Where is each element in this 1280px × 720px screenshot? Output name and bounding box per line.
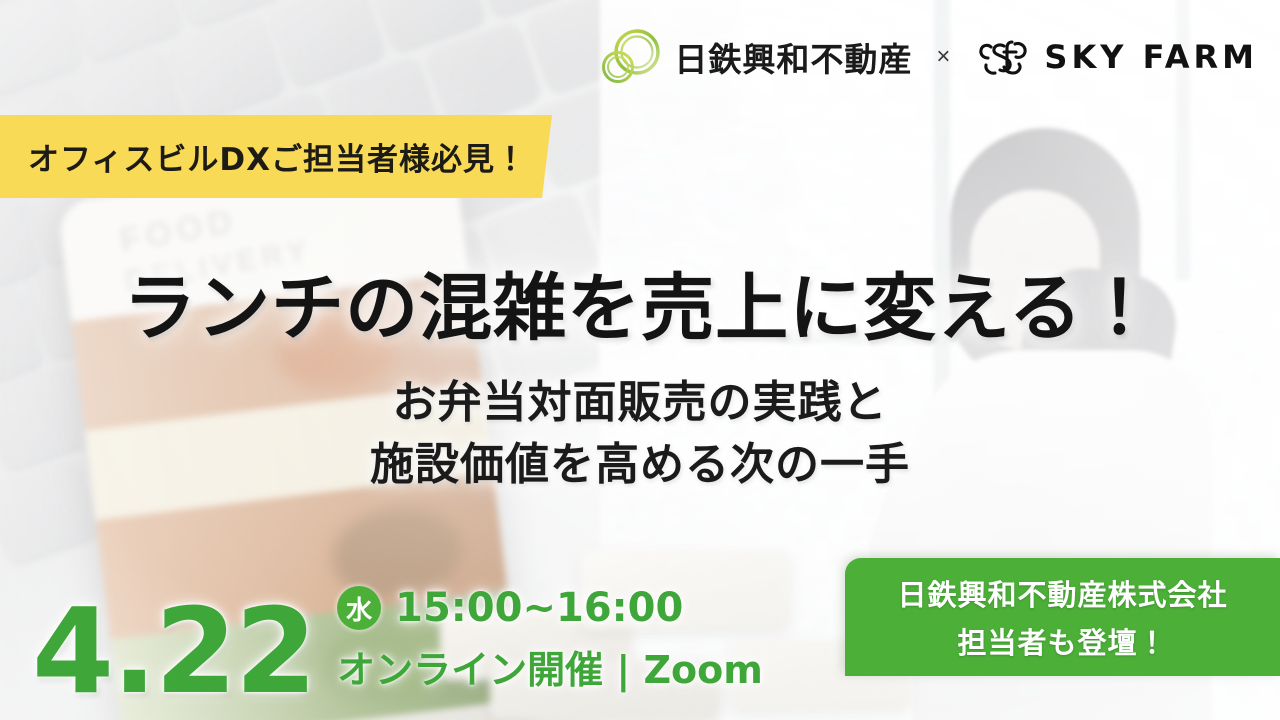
speaker-company: 日鉄興和不動産株式会社 [897,572,1227,614]
partner-b-name: SKY FARM [1044,38,1258,76]
partner-separator: × [930,43,956,71]
sf-cloud-monogram-icon [974,34,1032,80]
partner-logos: 日鉄興和不動産 × SKY FARM [598,26,1258,88]
event-datetime-block: 4.22 水 15:00~16:00 オンライン開催 | Zoom [32,585,763,702]
event-date: 4.22 [32,601,315,702]
audience-ribbon: オフィスビルDXご担当者様必見！ [0,115,552,198]
event-detail-column: 水 15:00~16:00 オンライン開催 | Zoom [337,585,763,702]
partner-b-logo: SKY FARM [974,34,1258,80]
event-time-row: 水 15:00~16:00 [337,585,763,631]
subtitle-line-1: お弁当対面販売の実践と [0,381,1280,425]
audience-ribbon-text: オフィスビルDXご担当者様必見！ [28,134,527,179]
speaker-note: 担当者も登壇！ [957,620,1167,662]
webinar-banner: FOOD DELIVERY [0,0,1280,720]
subtitle-line-2: 施設価値を高める次の一手 [0,443,1280,487]
event-format: オンライン開催 | Zoom [337,639,763,694]
page-title: ランチの混雑を売上に変える！ [0,272,1280,345]
foreground-content: 日鉄興和不動産 × SKY FARM [0,0,1280,720]
partner-a-name: 日鉄興和不動産 [674,33,912,81]
partner-a-logo: 日鉄興和不動産 [598,26,912,88]
double-ring-logo-icon [598,26,664,88]
day-of-week-badge: 水 [337,586,381,630]
event-time: 15:00~16:00 [395,585,683,631]
speaker-callout-box: 日鉄興和不動産株式会社 担当者も登壇！ [845,558,1280,676]
